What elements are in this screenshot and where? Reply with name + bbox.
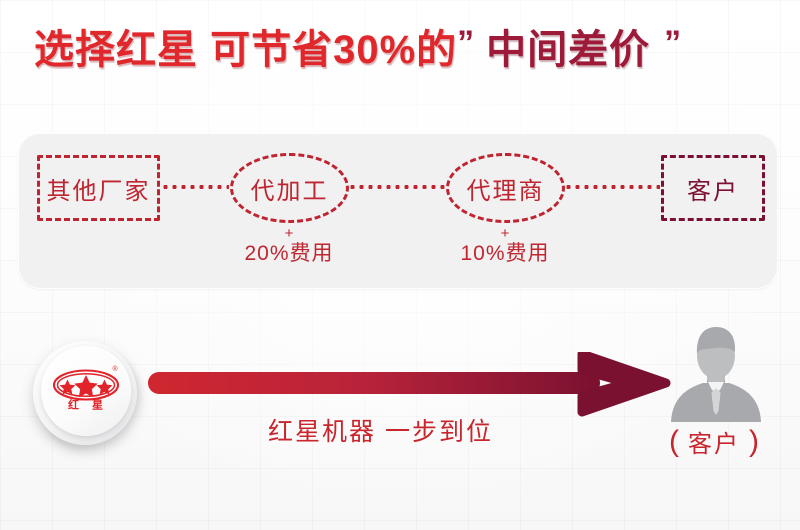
customer-label-text: 客户 — [688, 424, 740, 459]
connector-dots-2 — [348, 185, 446, 189]
page-title: 选择红星 可节省30%的”中间差价” — [34, 30, 679, 70]
chain-node-other-factory: 其他厂家 — [37, 155, 160, 221]
logo-char-left: 红 — [68, 398, 79, 412]
fee-plus-sign: + — [415, 227, 595, 241]
chain-node-label: 客户 — [687, 171, 739, 206]
flow-tagline: 红星机器 一步到位 — [268, 412, 493, 448]
bracket-right-icon: ) — [749, 428, 759, 456]
star-logo-icon: ® 红 星 — [41, 346, 131, 436]
quote-open-icon: ” — [457, 26, 472, 60]
chain-node-customer: 客户 — [661, 155, 765, 221]
chain-node-label: 代加工 — [251, 171, 329, 206]
customer-label: ( 客户 ) — [648, 424, 780, 459]
hongxing-logo-badge: ® 红 星 — [33, 341, 141, 449]
headline-primary-text: 选择红星 可节省30%的 — [34, 28, 457, 72]
customer-avatar-icon — [663, 316, 769, 422]
bracket-left-icon: ( — [669, 428, 679, 456]
logo-char-right: 星 — [92, 399, 103, 412]
supply-chain-panel: 其他厂家 代加工 代理商 客户 + 20%费用 + 10%费用 — [18, 133, 778, 289]
chain-node-label: 代理商 — [467, 171, 545, 206]
chain-node-agent: 代理商 — [446, 153, 565, 223]
fee-plus-sign: + — [199, 227, 379, 241]
fee-amount: 20%费用 — [199, 241, 379, 267]
headline-emphasis-text: 中间差价 — [486, 28, 650, 72]
connector-dots-1 — [161, 185, 229, 189]
quote-close-icon: ” — [664, 26, 679, 60]
fee-oem: + 20%费用 — [199, 227, 379, 267]
registered-mark: ® — [113, 365, 119, 373]
chain-node-oem: 代加工 — [230, 153, 349, 223]
chain-node-label: 其他厂家 — [47, 171, 151, 206]
fee-amount: 10%费用 — [415, 241, 595, 267]
connector-dots-3 — [564, 185, 660, 189]
fee-agent: + 10%费用 — [415, 227, 595, 267]
